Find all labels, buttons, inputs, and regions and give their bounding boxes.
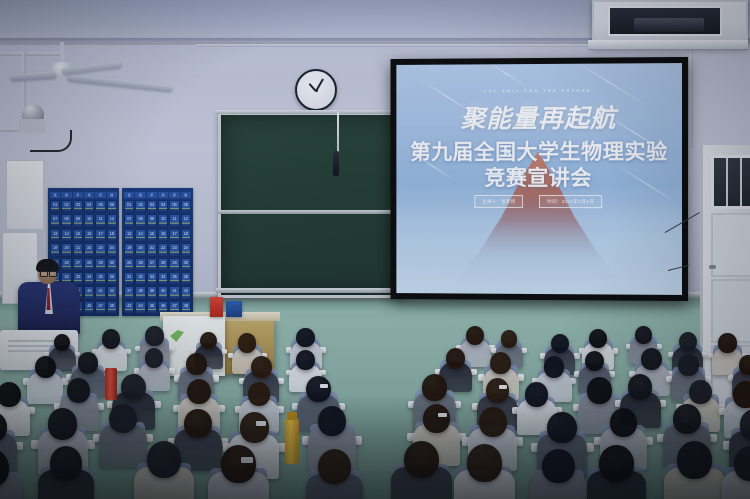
student-head <box>585 351 604 371</box>
pocket-slot: 09 <box>73 214 83 227</box>
pocket-slot: 36 <box>107 272 117 285</box>
hair-clip <box>438 413 447 418</box>
pocket-slot: 19 <box>124 243 134 256</box>
pocket-slot: 28 <box>158 258 168 271</box>
student-head <box>187 379 211 405</box>
hair-clip <box>499 385 507 389</box>
pocket-slot: 10 <box>84 214 94 227</box>
pocket-slot: 24 <box>107 243 117 256</box>
door-panel <box>711 213 750 277</box>
hair-clip <box>241 457 253 463</box>
pocket-slot: 11 <box>95 214 105 227</box>
student-head <box>318 449 351 484</box>
pocket-header-cell: 存 <box>169 192 179 198</box>
student-head <box>296 350 315 370</box>
pocket-slot: 39 <box>147 286 157 299</box>
student-head <box>50 446 83 481</box>
student-head <box>641 348 662 370</box>
pocket-slot: 27 <box>147 258 157 271</box>
pocket-slot: 10 <box>158 214 168 227</box>
pocket-slot: 37 <box>124 286 134 299</box>
student-head <box>551 334 569 353</box>
student-head <box>466 326 484 345</box>
student-head <box>678 354 699 376</box>
pocket-row: 373839404142 <box>124 286 191 299</box>
slide-canvas: LET SAIL FOR THE FUTURE 聚能量再起航 第九届全国大学生物… <box>396 63 682 295</box>
student-head <box>718 333 736 353</box>
pocket-row: 010203040506 <box>50 200 117 213</box>
pocket-row: 192021222324 <box>124 243 191 256</box>
student-head <box>306 376 331 402</box>
pocket-row: 070809101112 <box>50 214 117 227</box>
slide-main-title: 第九届全国大学生物理实验 竞赛宣讲会 <box>396 140 682 192</box>
pocket-slot: 20 <box>61 243 71 256</box>
pocket-slot: 29 <box>95 258 105 271</box>
pocket-slot: 13 <box>124 229 134 242</box>
glasses-icon <box>40 271 48 277</box>
pocket-slot: 28 <box>84 258 94 271</box>
student-head <box>628 374 652 399</box>
student-head <box>238 333 256 352</box>
mountain-haze <box>396 202 682 295</box>
student-head <box>121 374 146 400</box>
student-head <box>446 348 465 369</box>
pocket-row: 070809101112 <box>124 214 191 227</box>
pocket-slot: 23 <box>169 243 179 256</box>
student-head <box>673 404 701 434</box>
pocket-slot: 26 <box>135 258 145 271</box>
pocket-panel-header: 班级手机存放 <box>50 192 117 198</box>
slide-title-line-2: 竞赛宣讲会 <box>396 165 682 191</box>
yellow-water-bottle <box>285 418 299 464</box>
student-head <box>318 406 346 436</box>
pocket-header-cell: 班 <box>124 192 134 198</box>
pocket-slot: 14 <box>135 229 145 242</box>
pocket-slot: 25 <box>124 258 134 271</box>
student-head <box>679 332 697 351</box>
pocket-slot: 30 <box>107 258 117 271</box>
pocket-slot: 26 <box>61 258 71 271</box>
student-head <box>296 328 314 348</box>
pocket-slot: 19 <box>50 243 60 256</box>
pocket-slot: 17 <box>169 229 179 242</box>
slide-speaker-chip: 主讲人：张老师 <box>474 195 523 208</box>
pocket-slot: 15 <box>147 229 157 242</box>
pocket-slot: 40 <box>158 286 168 299</box>
pocket-slot: 31 <box>124 272 134 285</box>
pocket-slot: 24 <box>181 243 191 256</box>
projector-cage-base <box>588 40 748 50</box>
pocket-slot: 14 <box>61 229 71 242</box>
pocket-row: 192021222324 <box>50 243 117 256</box>
pocket-slot: 34 <box>158 272 168 285</box>
conduit-pipe <box>0 52 60 56</box>
student-head <box>479 407 507 437</box>
pocket-slot: 12 <box>107 214 117 227</box>
fan-rod <box>60 42 64 64</box>
pocket-slot: 42 <box>181 286 191 299</box>
pocket-row: 313233343536 <box>124 272 191 285</box>
pocket-slot: 07 <box>50 214 60 227</box>
student-head <box>0 382 21 407</box>
student-head <box>635 326 652 344</box>
pocket-slot: 21 <box>73 243 83 256</box>
projector-cage-window <box>608 6 722 36</box>
pocket-slot: 05 <box>169 200 179 213</box>
slide-calligraphy-title: 聚能量再起航 <box>396 98 682 135</box>
student-head <box>240 412 269 443</box>
pocket-slot: 17 <box>95 229 105 242</box>
yellow-bottle-cap <box>287 412 297 420</box>
pocket-header-cell: 级 <box>135 192 145 198</box>
pocket-row: 252627282930 <box>50 258 117 271</box>
pocket-header-cell: 班 <box>50 192 60 198</box>
pocket-slot: 30 <box>181 258 191 271</box>
student-head <box>501 330 517 348</box>
student-head <box>610 408 637 437</box>
pocket-slot: 38 <box>135 286 145 299</box>
student-head <box>184 409 212 438</box>
blackboard-chalk-tray <box>216 288 408 293</box>
pocket-rows-right: 0102030405060708091011121314151617181920… <box>124 200 191 314</box>
pocket-slot: 03 <box>73 200 83 213</box>
hanging-cord <box>337 112 339 154</box>
student-head <box>221 445 257 483</box>
pocket-slot: 23 <box>95 243 105 256</box>
student-head <box>109 404 137 433</box>
pocket-slot: 02 <box>135 200 145 213</box>
pocket-slot: 04 <box>158 200 168 213</box>
student-head <box>147 441 181 478</box>
blackboard-mid-rail <box>218 210 406 214</box>
student-head <box>589 329 607 348</box>
pocket-slot: 04 <box>84 200 94 213</box>
student-head <box>35 356 56 378</box>
pocket-row: 131415161718 <box>124 229 191 242</box>
student-head <box>78 352 98 374</box>
pocket-slot: 01 <box>124 200 134 213</box>
pocket-header-cell: 手 <box>73 192 83 198</box>
classroom-photo: 班级手机存放 010203040506070809101112131415161… <box>0 0 750 499</box>
door-handle[interactable] <box>709 265 716 269</box>
pocket-slot: 16 <box>84 229 94 242</box>
pocket-slot: 27 <box>73 258 83 271</box>
student-head <box>486 378 510 403</box>
pocket-slot: 35 <box>95 272 105 285</box>
student-head <box>689 380 712 404</box>
student-head <box>102 329 120 348</box>
pocket-header-cell: 机 <box>158 192 168 198</box>
wall-clock <box>295 69 337 111</box>
pocket-slot: 08 <box>135 214 145 227</box>
pocket-row: 252627282930 <box>124 258 191 271</box>
pocket-panel-right: 班级手机存放 010203040506070809101112131415161… <box>122 188 193 316</box>
glasses-icon <box>49 271 57 277</box>
student-head <box>145 348 164 368</box>
projector-device <box>634 18 704 32</box>
pocket-slot: 13 <box>50 229 60 242</box>
student-head <box>186 353 207 375</box>
pocket-slot: 32 <box>135 272 145 285</box>
pocket-slot: 06 <box>181 200 191 213</box>
student-head <box>423 404 450 433</box>
blackboard-top-rail <box>216 110 408 114</box>
student-head <box>739 355 750 375</box>
pocket-slot: 33 <box>147 272 157 285</box>
pocket-slot: 36 <box>181 272 191 285</box>
student-head <box>467 444 502 482</box>
pocket-slot: 16 <box>158 229 168 242</box>
pocket-slot: 34 <box>84 272 94 285</box>
pocket-slot: 06 <box>107 200 117 213</box>
pocket-slot: 41 <box>95 286 105 299</box>
student-head <box>422 374 447 400</box>
student-head <box>54 334 70 351</box>
pocket-header-cell: 级 <box>61 192 71 198</box>
hair-clip <box>256 421 266 426</box>
pocket-slot: 35 <box>169 272 179 285</box>
pocket-slot: 03 <box>147 200 157 213</box>
student-head <box>248 382 271 406</box>
pocket-slot: 40 <box>84 286 94 299</box>
student-head <box>490 352 511 374</box>
clock-center-pin <box>315 89 318 92</box>
slide-eyebrow-text: LET SAIL FOR THE FUTURE <box>396 89 682 94</box>
pocket-panel-header: 班级手机存放 <box>124 192 191 198</box>
pocket-slot: 11 <box>169 214 179 227</box>
speaker-wire <box>30 130 72 152</box>
pocket-slot: 12 <box>181 214 191 227</box>
hair-clip <box>320 384 328 388</box>
conduit-pipe <box>690 44 693 148</box>
pocket-header-cell: 手 <box>147 192 157 198</box>
pocket-slot: 02 <box>61 200 71 213</box>
pocket-slot: 15 <box>73 229 83 242</box>
pocket-header-cell: 存 <box>95 192 105 198</box>
pocket-row: 131415161718 <box>50 229 117 242</box>
student-head <box>200 332 217 350</box>
pocket-header-cell: 放 <box>181 192 191 198</box>
blackboard <box>218 112 406 298</box>
pocket-slot: 08 <box>61 214 71 227</box>
pocket-slot: 18 <box>107 229 117 242</box>
student-head <box>542 449 574 484</box>
pocket-slot: 07 <box>124 214 134 227</box>
pocket-slot: 29 <box>169 258 179 271</box>
student-head <box>599 445 634 482</box>
pocket-slot: 05 <box>95 200 105 213</box>
pocket-slot: 20 <box>135 243 145 256</box>
red-water-bottle <box>105 368 117 400</box>
pocket-header-cell: 机 <box>84 192 94 198</box>
student-head <box>67 378 90 403</box>
pocket-slot: 01 <box>50 200 60 213</box>
student-head <box>547 412 576 443</box>
pocket-slot: 22 <box>158 243 168 256</box>
student-head <box>733 381 750 407</box>
student-head <box>677 441 713 479</box>
pocket-header-cell: 放 <box>107 192 117 198</box>
student-head <box>251 356 272 378</box>
student-head <box>525 382 548 407</box>
pocket-slot: 21 <box>147 243 157 256</box>
student-head <box>544 356 564 378</box>
slide-title-line-1: 第九届全国大学生物理实验 <box>396 140 682 166</box>
student-head <box>48 408 77 439</box>
slide-meta-row: 主讲人：张老师 时间：2024年X月X日 <box>396 195 682 208</box>
student-head <box>404 441 439 478</box>
pocket-slot: 09 <box>147 214 157 227</box>
pocket-slot: 22 <box>84 243 94 256</box>
student-head <box>587 377 612 403</box>
slide-time-chip: 时间：2024年X月X日 <box>539 195 602 208</box>
wall-notice-poster <box>6 160 44 230</box>
pocket-slot: 18 <box>181 229 191 242</box>
pocket-row: 010203040506 <box>124 200 191 213</box>
pocket-slot: 41 <box>169 286 179 299</box>
projection-screen[interactable]: LET SAIL FOR THE FUTURE 聚能量再起航 第九届全国大学生物… <box>390 57 688 301</box>
door-transom-window <box>711 155 750 209</box>
hanging-pointer <box>333 151 339 176</box>
pocket-slot: 42 <box>107 286 117 299</box>
student-head <box>145 326 163 345</box>
